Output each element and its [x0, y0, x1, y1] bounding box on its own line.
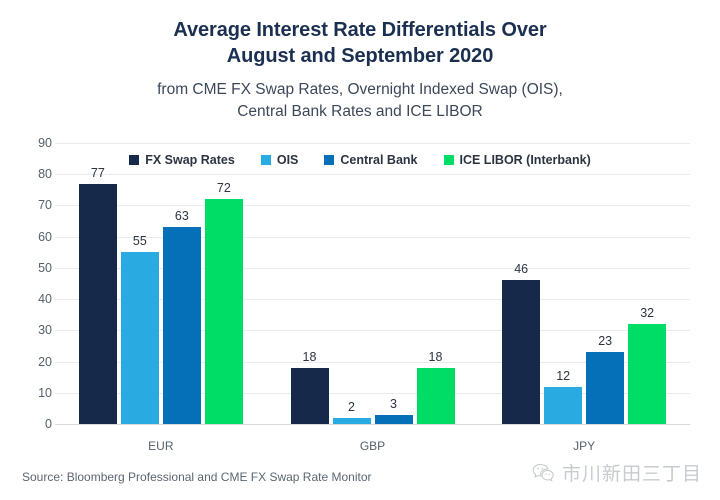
x-axis-label-gbp: GBP	[360, 439, 385, 453]
wechat-logo-icon	[531, 461, 555, 485]
bar-value-label: 18	[303, 350, 317, 364]
chart-title-line-2: August and September 2020	[80, 44, 640, 70]
bar-value-label: 63	[175, 209, 189, 223]
bar-gbp-ice-libor-interbank[interactable]: 18	[417, 143, 455, 424]
bar-value-label: 18	[429, 350, 443, 364]
watermark-text: 市川新田三丁目	[562, 459, 702, 486]
bar-rect	[544, 387, 582, 424]
y-axis-tick-label: 0	[6, 417, 52, 431]
x-axis-label-eur: EUR	[148, 439, 173, 453]
bar-eur-ice-libor-interbank[interactable]: 72	[205, 143, 243, 424]
legend-label: OIS	[277, 153, 299, 167]
bar-value-label: 2	[348, 400, 355, 414]
legend-label: ICE LIBOR (Interbank)	[460, 153, 591, 167]
bar-eur-ois[interactable]: 55	[121, 143, 159, 424]
legend-item-central-bank[interactable]: Central Bank	[324, 153, 417, 167]
legend-swatch-icon	[444, 155, 454, 165]
legend-label: FX Swap Rates	[145, 153, 235, 167]
y-axis-tick-label: 80	[6, 167, 52, 181]
bar-rect	[333, 418, 371, 424]
bar-value-label: 32	[640, 306, 654, 320]
bar-jpy-central-bank[interactable]: 23	[586, 143, 624, 424]
source-note: Source: Bloomberg Professional and CME F…	[22, 470, 372, 484]
chart-legend: FX Swap RatesOISCentral BankICE LIBOR (I…	[0, 153, 720, 167]
legend-item-ois[interactable]: OIS	[261, 153, 299, 167]
bar-group-eur: 77556372	[79, 143, 243, 424]
bar-value-label: 46	[514, 262, 528, 276]
bar-rect	[417, 368, 455, 424]
chart-title-line-1: Average Interest Rate Differentials Over	[80, 18, 640, 44]
legend-item-fx-swap-rates[interactable]: FX Swap Rates	[129, 153, 235, 167]
legend-swatch-icon	[129, 155, 139, 165]
bar-rect	[502, 280, 540, 424]
y-axis-tick-label: 50	[6, 261, 52, 275]
bar-group-jpy: 46122332	[502, 143, 666, 424]
bar-value-label: 23	[598, 334, 612, 348]
bar-gbp-ois[interactable]: 2	[333, 143, 371, 424]
y-axis-tick-label: 30	[6, 323, 52, 337]
bar-eur-fx-swap-rates[interactable]: 77	[79, 143, 117, 424]
y-axis-tick-label: 40	[6, 292, 52, 306]
y-axis-tick-label: 20	[6, 355, 52, 369]
bar-chart: 0102030405060708090 77556372EUR182318GBP…	[0, 134, 720, 444]
y-axis-tick-label: 90	[6, 136, 52, 150]
title-block: Average Interest Rate Differentials Over…	[0, 0, 720, 122]
bar-value-label: 72	[217, 181, 231, 195]
chart-subtitle-line-1: from CME FX Swap Rates, Overnight Indexe…	[60, 79, 660, 100]
bar-jpy-ois[interactable]: 12	[544, 143, 582, 424]
legend-item-ice-libor-interbank[interactable]: ICE LIBOR (Interbank)	[444, 153, 591, 167]
bar-value-label: 77	[91, 166, 105, 180]
y-axis-tick-label: 10	[6, 386, 52, 400]
y-axis: 0102030405060708090	[0, 143, 52, 424]
page-title: Average Interest Rate Differentials Over…	[80, 18, 640, 69]
bar-group-gbp: 182318	[291, 143, 455, 424]
bar-value-label: 55	[133, 234, 147, 248]
bar-jpy-fx-swap-rates[interactable]: 46	[502, 143, 540, 424]
bar-gbp-central-bank[interactable]: 3	[375, 143, 413, 424]
bar-gbp-fx-swap-rates[interactable]: 18	[291, 143, 329, 424]
legend-swatch-icon	[324, 155, 334, 165]
bar-rect	[586, 352, 624, 424]
watermark: 市川新田三丁目	[531, 459, 702, 486]
legend-swatch-icon	[261, 155, 271, 165]
bar-eur-central-bank[interactable]: 63	[163, 143, 201, 424]
x-axis-label-jpy: JPY	[573, 439, 595, 453]
y-axis-tick-label: 70	[6, 198, 52, 212]
bar-rect	[205, 199, 243, 424]
bar-rect	[121, 252, 159, 424]
bar-rect	[291, 368, 329, 424]
gridline	[55, 424, 690, 425]
bar-value-label: 3	[390, 397, 397, 411]
chart-subtitle: from CME FX Swap Rates, Overnight Indexe…	[60, 79, 660, 122]
legend-label: Central Bank	[340, 153, 417, 167]
bar-rect	[79, 184, 117, 424]
bar-rect	[375, 415, 413, 424]
plot-area: 77556372EUR182318GBP46122332JPY	[55, 143, 690, 424]
bar-value-label: 12	[556, 369, 570, 383]
y-axis-tick-label: 60	[6, 230, 52, 244]
bar-rect	[163, 227, 201, 424]
chart-subtitle-line-2: Central Bank Rates and ICE LIBOR	[60, 101, 660, 122]
bar-rect	[628, 324, 666, 424]
bar-jpy-ice-libor-interbank[interactable]: 32	[628, 143, 666, 424]
